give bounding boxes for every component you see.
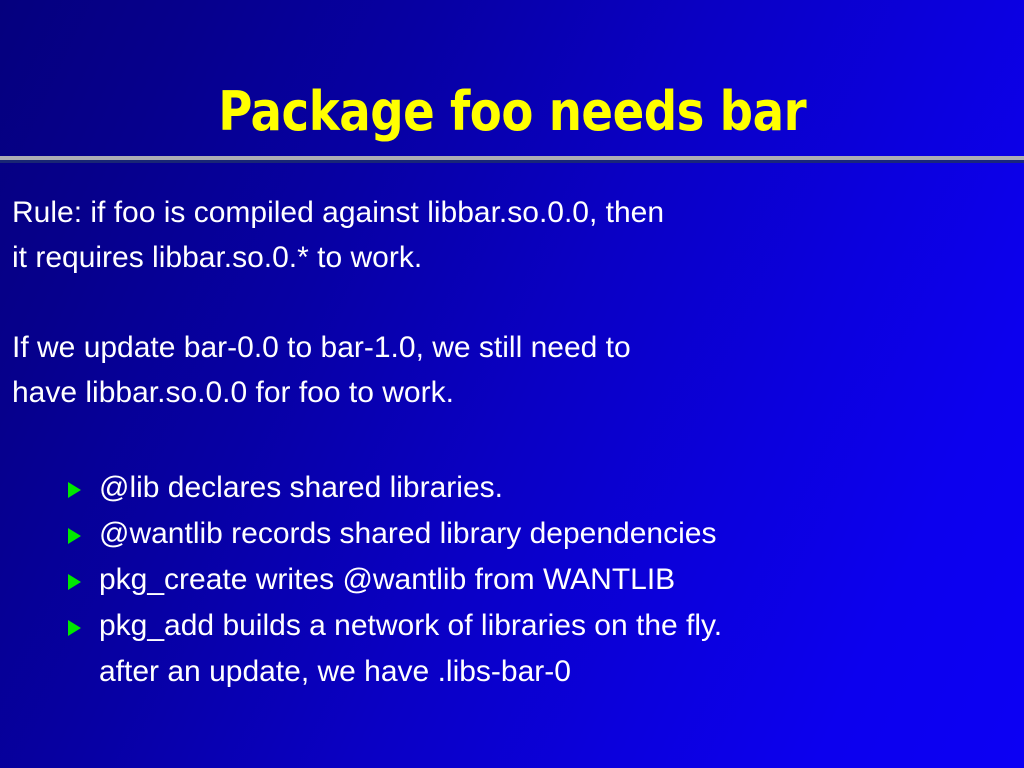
bullet-list: @lib declares shared libraries. @wantlib… <box>68 470 1018 700</box>
paragraph-line: If we update bar-0.0 to bar-1.0, we stil… <box>12 325 1012 370</box>
slide-title-area: Package foo needs bar <box>0 72 1024 152</box>
list-item: @lib declares shared libraries. <box>68 470 1018 516</box>
list-item-continuation-label: after an update, we have .libs-bar-0 <box>99 654 571 700</box>
paragraph-line: Rule: if foo is compiled against libbar.… <box>12 190 1012 235</box>
slide-body: Rule: if foo is compiled against libbar.… <box>12 190 1012 415</box>
list-item-label: @lib declares shared libraries. <box>99 470 503 506</box>
paragraph-line: have libbar.so.0.0 for foo to work. <box>12 370 1012 415</box>
list-item-continuation: after an update, we have .libs-bar-0 <box>68 654 1018 700</box>
triangle-right-icon <box>68 608 99 646</box>
triangle-right-icon <box>68 470 99 508</box>
list-item: pkg_create writes @wantlib from WANTLIB <box>68 562 1018 608</box>
page-title: Package foo needs bar <box>218 85 806 139</box>
paragraph-spacer <box>12 280 1012 325</box>
triangle-right-icon <box>68 562 99 600</box>
presentation-slide: Package foo needs bar Rule: if foo is co… <box>0 0 1024 768</box>
paragraph-line: it requires libbar.so.0.* to work. <box>12 235 1012 280</box>
list-item-label: pkg_add builds a network of libraries on… <box>99 608 722 644</box>
list-item-label: @wantlib records shared library dependen… <box>99 516 716 552</box>
title-divider-shadow <box>0 160 1024 163</box>
list-item-label: pkg_create writes @wantlib from WANTLIB <box>99 562 675 598</box>
list-item: @wantlib records shared library dependen… <box>68 516 1018 562</box>
triangle-right-icon <box>68 516 99 554</box>
list-item: pkg_add builds a network of libraries on… <box>68 608 1018 654</box>
